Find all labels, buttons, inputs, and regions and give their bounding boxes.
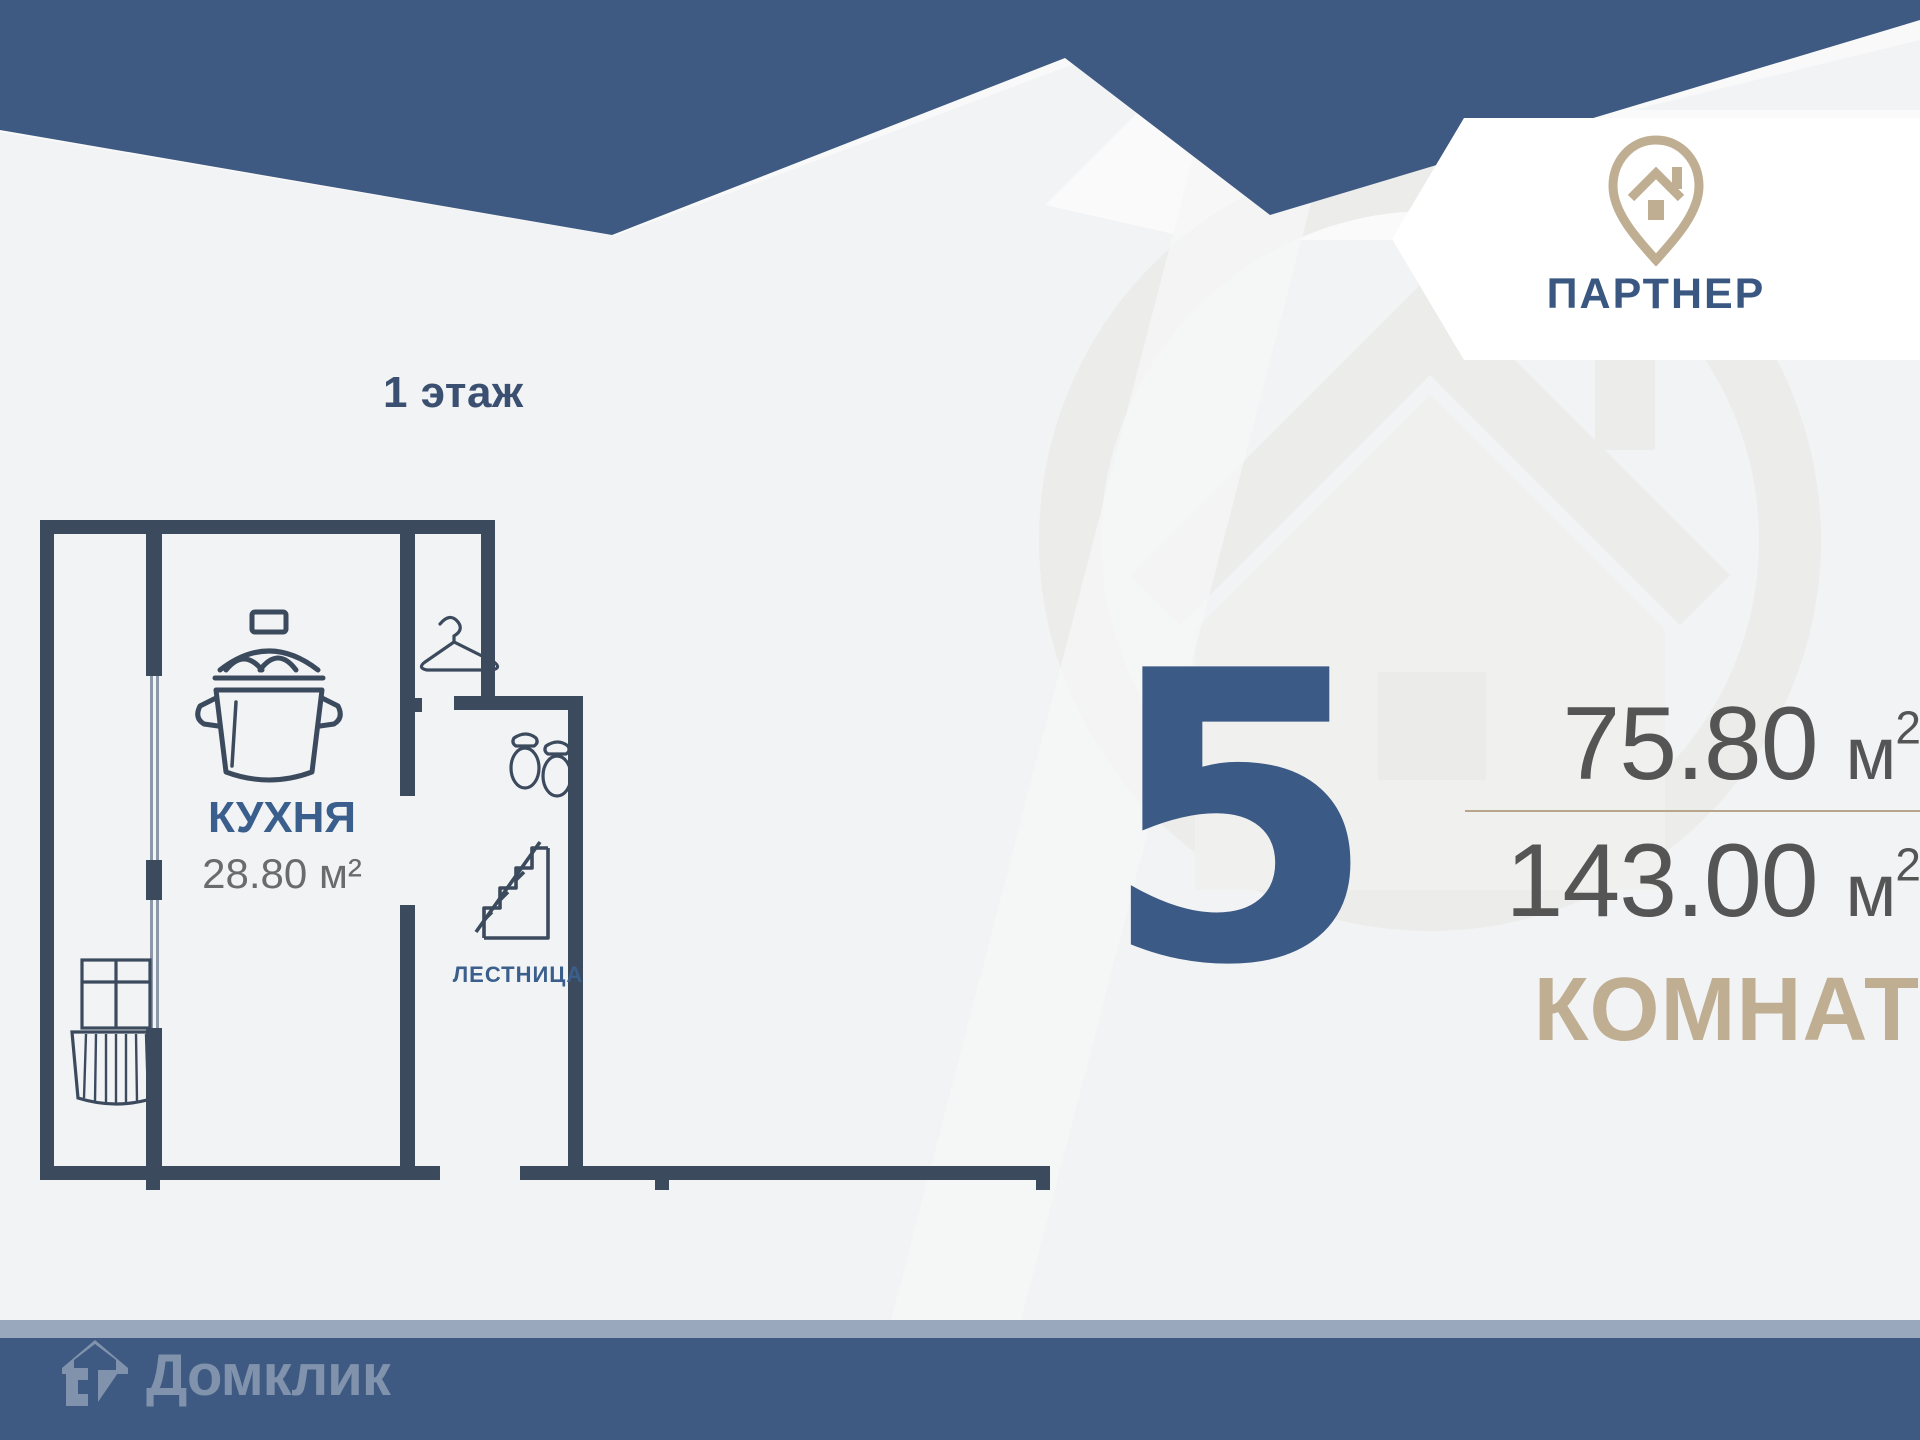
domclick-logo[interactable]: Домклик <box>58 1310 390 1440</box>
cooking-pot-icon <box>198 612 341 780</box>
living-area-unit: м <box>1846 712 1896 795</box>
rooms-count: 5 <box>1100 665 1378 977</box>
apartment-stats: 5 75.80 м2 143.00 м2 КОМНАТ <box>1090 675 1920 1105</box>
total-area-line: 143.00 м2 <box>1465 822 1920 941</box>
floorplan-page: 1 этаж ПАРТНЕР <box>0 0 1920 1440</box>
total-area-unit: м <box>1846 849 1896 932</box>
domclick-logo-icon <box>58 1338 132 1412</box>
partner-badge[interactable]: ПАРТНЕР <box>1392 118 1920 360</box>
rooms-word: КОМНАТ <box>1465 959 1920 1062</box>
total-area-unit-sup: 2 <box>1895 838 1920 890</box>
living-area-unit-sup: 2 <box>1895 701 1920 753</box>
balcony-window-icon <box>72 960 160 1104</box>
living-area-value: 75.80 <box>1562 686 1817 802</box>
room-area-kitchen: 28.80 м² <box>202 850 362 897</box>
stairs-icon <box>476 842 548 938</box>
floor-label: 1 этаж <box>383 368 524 418</box>
room-label-kitchen: КУХНЯ <box>208 793 356 842</box>
map-pin-house-icon <box>1600 134 1712 266</box>
total-area-value: 143.00 <box>1506 823 1818 939</box>
living-area-line: 75.80 м2 <box>1465 685 1920 804</box>
room-label-stairs: ЛЕСТНИЦА <box>453 962 584 987</box>
partner-label: ПАРТНЕР <box>1547 270 1766 319</box>
domclick-wordmark: Домклик <box>146 1342 390 1409</box>
stats-divider <box>1465 810 1920 812</box>
floor-plan: КУХНЯ 28.80 м² ЛЕСТНИЦА ЖИЛАЯ 11.70 м² Ж… <box>40 520 1070 1190</box>
slippers-icon <box>511 734 571 796</box>
